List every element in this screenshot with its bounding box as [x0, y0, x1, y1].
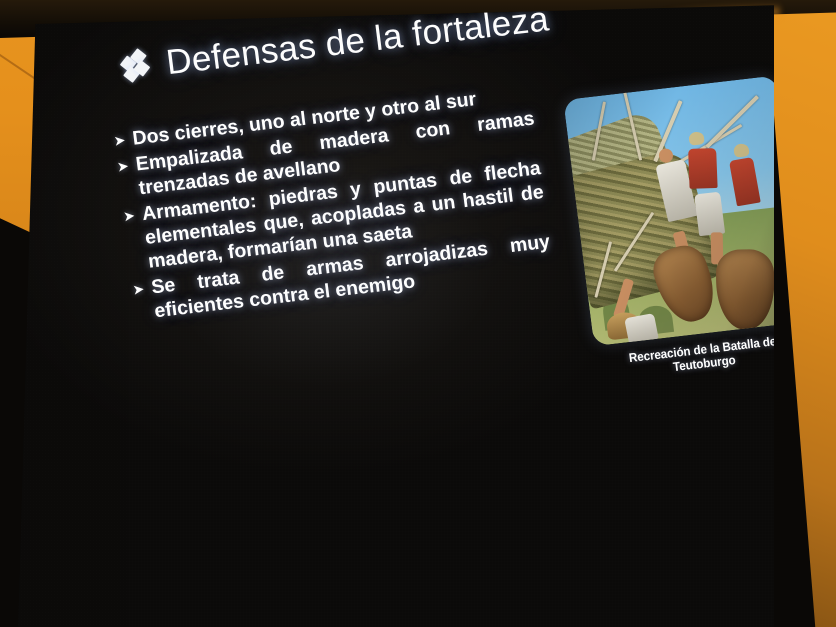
photo-shading-overlay — [563, 75, 807, 346]
slide-content: Defensas de la fortaleza Dos cierres, un… — [0, 0, 818, 627]
battle-illustration-image — [563, 75, 807, 346]
room-environment: Defensas de la fortaleza Dos cierres, un… — [0, 0, 836, 627]
slide-bullet-list: Dos cierres, uno al norte y otro al sur … — [112, 82, 554, 329]
pinwheel-diamond-icon — [121, 52, 155, 85]
projection-screen: Defensas de la fortaleza Dos cierres, un… — [18, 4, 774, 627]
slide-figure: Recreación de la Batalla de Teutoburgo — [563, 75, 811, 382]
